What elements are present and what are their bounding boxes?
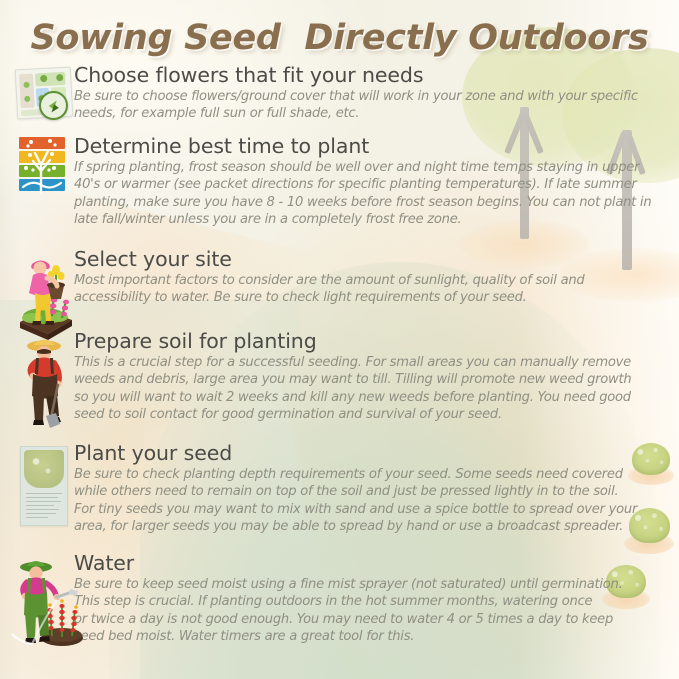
step-heading: Plant your seed: [74, 442, 679, 465]
step-body: If spring planting, frost season should …: [74, 159, 679, 229]
step-heading: Select your site: [74, 248, 679, 271]
step-body: Most important factors to consider are t…: [74, 272, 679, 307]
gardener-flowers-art: [14, 248, 76, 340]
step-item-select-site: Select your site Most important factors …: [0, 248, 679, 307]
gardener-shovel-art: [18, 332, 74, 432]
seasons-tree-silhouette: [19, 137, 65, 193]
gardener-watering-art: [12, 552, 82, 648]
step-heading: Determine best time to plant: [74, 135, 679, 158]
step-text-block: Prepare soil for planting This is a cruc…: [74, 330, 679, 424]
seed-packet: [20, 446, 68, 526]
step-body: This is a crucial step for a successful …: [74, 354, 679, 424]
step-heading: Prepare soil for planting: [74, 330, 679, 353]
step-body: Be sure to check planting depth requirem…: [74, 466, 679, 536]
four-seasons-bars: [19, 137, 65, 193]
step-item-plant-seed: Plant your seed Be sure to check plantin…: [0, 442, 679, 536]
step-item-choose-flowers: Choose flowers that fit your needs Be su…: [0, 64, 679, 123]
step-heading: Choose flowers that fit your needs: [74, 64, 679, 87]
seed-packet-photo: [24, 450, 64, 488]
step-item-prepare-soil: Prepare soil for planting This is a cruc…: [0, 330, 679, 424]
compass-icon: [39, 91, 68, 120]
step-text-block: Water Be sure to keep seed moist using a…: [74, 552, 679, 646]
page-title: Sowing Seed Directly Outdoors: [0, 18, 679, 58]
step-item-determine-time: Determine best time to plant If spring p…: [0, 135, 679, 229]
step-body: Be sure to choose flowers/ground cover t…: [74, 88, 679, 123]
step-body: Be sure to keep seed moist using a fine …: [74, 576, 679, 646]
step-text-block: Select your site Most important factors …: [74, 248, 679, 307]
step-text-block: Choose flowers that fit your needs Be su…: [74, 64, 679, 123]
step-text-block: Determine best time to plant If spring p…: [74, 135, 679, 229]
step-heading: Water: [74, 552, 679, 575]
infographic-poster: Sowing Seed Directly Outdoors: [0, 0, 679, 679]
step-item-water: Water Be sure to keep seed moist using a…: [0, 552, 679, 646]
step-text-block: Plant your seed Be sure to check plantin…: [74, 442, 679, 536]
